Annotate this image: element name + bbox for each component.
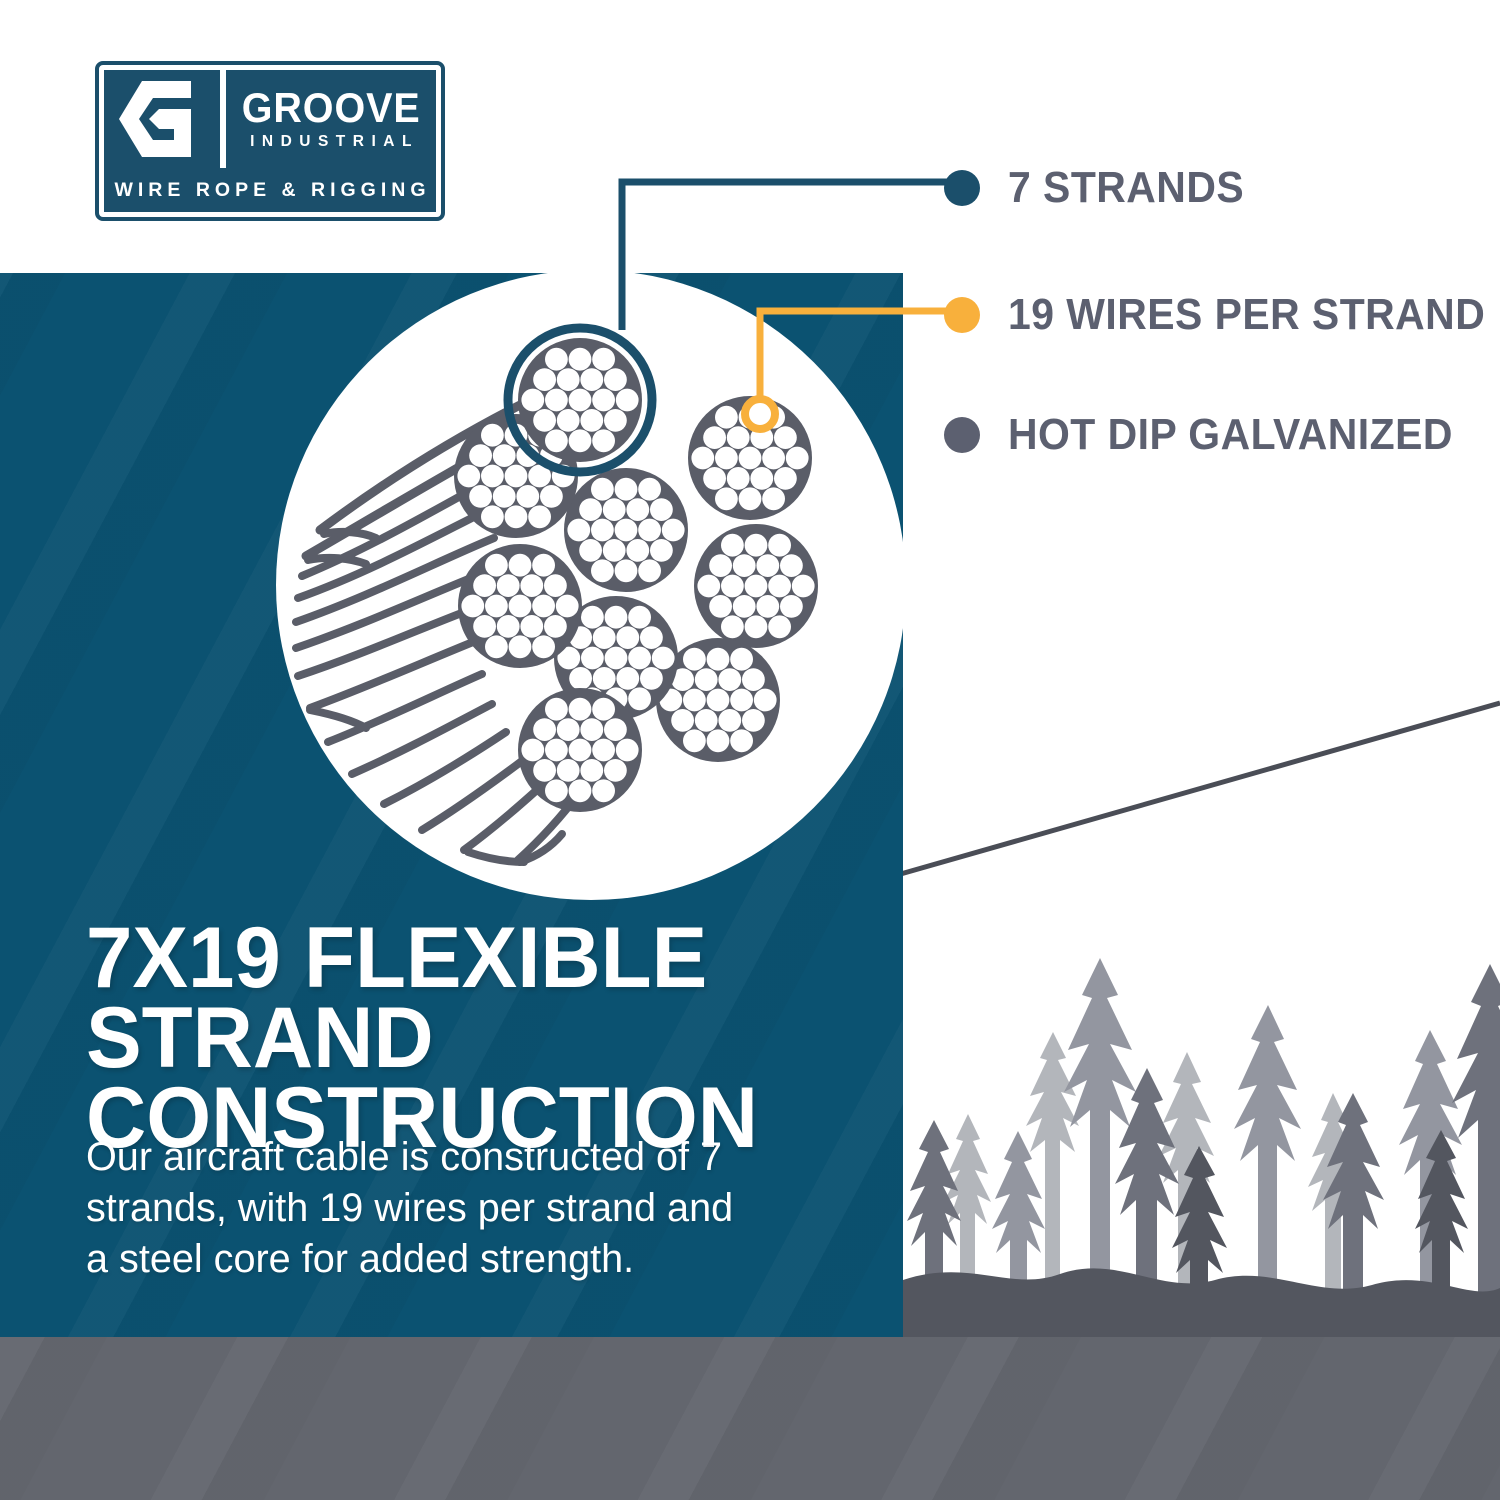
page-title: 7X19 FLEXIBLE STRAND CONSTRUCTION bbox=[86, 918, 876, 1158]
callout-7-strands[interactable]: 7 STRANDS bbox=[944, 163, 1262, 213]
infographic-canvas: 7 STRANDS 19 WIRES PER STRAND HOT DIP GA… bbox=[0, 0, 1500, 1500]
callout-dot-icon bbox=[944, 297, 980, 333]
leader-line-19-wires bbox=[760, 311, 958, 412]
wire-anchor-ring-icon bbox=[745, 399, 775, 429]
body-copy: Our aircraft cable is constructed of 7 s… bbox=[86, 1132, 759, 1285]
logo-top-band: GROOVE INDUSTRIAL bbox=[104, 70, 436, 168]
logo-tagline-band: WIRE ROPE & RIGGING bbox=[104, 168, 436, 212]
callout-label: 19 WIRES PER STRAND bbox=[1008, 290, 1485, 340]
callout-label: 7 STRANDS bbox=[1008, 163, 1244, 213]
logo-tagline: WIRE ROPE & RIGGING bbox=[109, 179, 430, 202]
logo-wordmark-box: GROOVE INDUSTRIAL bbox=[226, 70, 436, 168]
callout-19-wires-per-strand[interactable]: 19 WIRES PER STRAND bbox=[944, 290, 1500, 340]
logo-subtitle: INDUSTRIAL bbox=[243, 133, 419, 151]
headline-line-1: 7X19 FLEXIBLE bbox=[86, 918, 852, 998]
logo-wordmark: GROOVE bbox=[242, 87, 421, 129]
bottom-gray-band bbox=[0, 1337, 1500, 1500]
groove-g-icon bbox=[119, 81, 205, 157]
logo-inner: GROOVE INDUSTRIAL WIRE ROPE & RIGGING bbox=[104, 70, 436, 212]
callout-label: HOT DIP GALVANIZED bbox=[1008, 410, 1453, 460]
band-wave-texture bbox=[0, 1337, 1500, 1500]
callout-dot-icon bbox=[944, 417, 980, 453]
callout-dot-icon bbox=[944, 170, 980, 206]
logo-mark-box bbox=[104, 70, 220, 168]
brand-logo[interactable]: GROOVE INDUSTRIAL WIRE ROPE & RIGGING bbox=[95, 61, 445, 221]
callout-hot-dip-galvanized[interactable]: HOT DIP GALVANIZED bbox=[944, 410, 1486, 460]
